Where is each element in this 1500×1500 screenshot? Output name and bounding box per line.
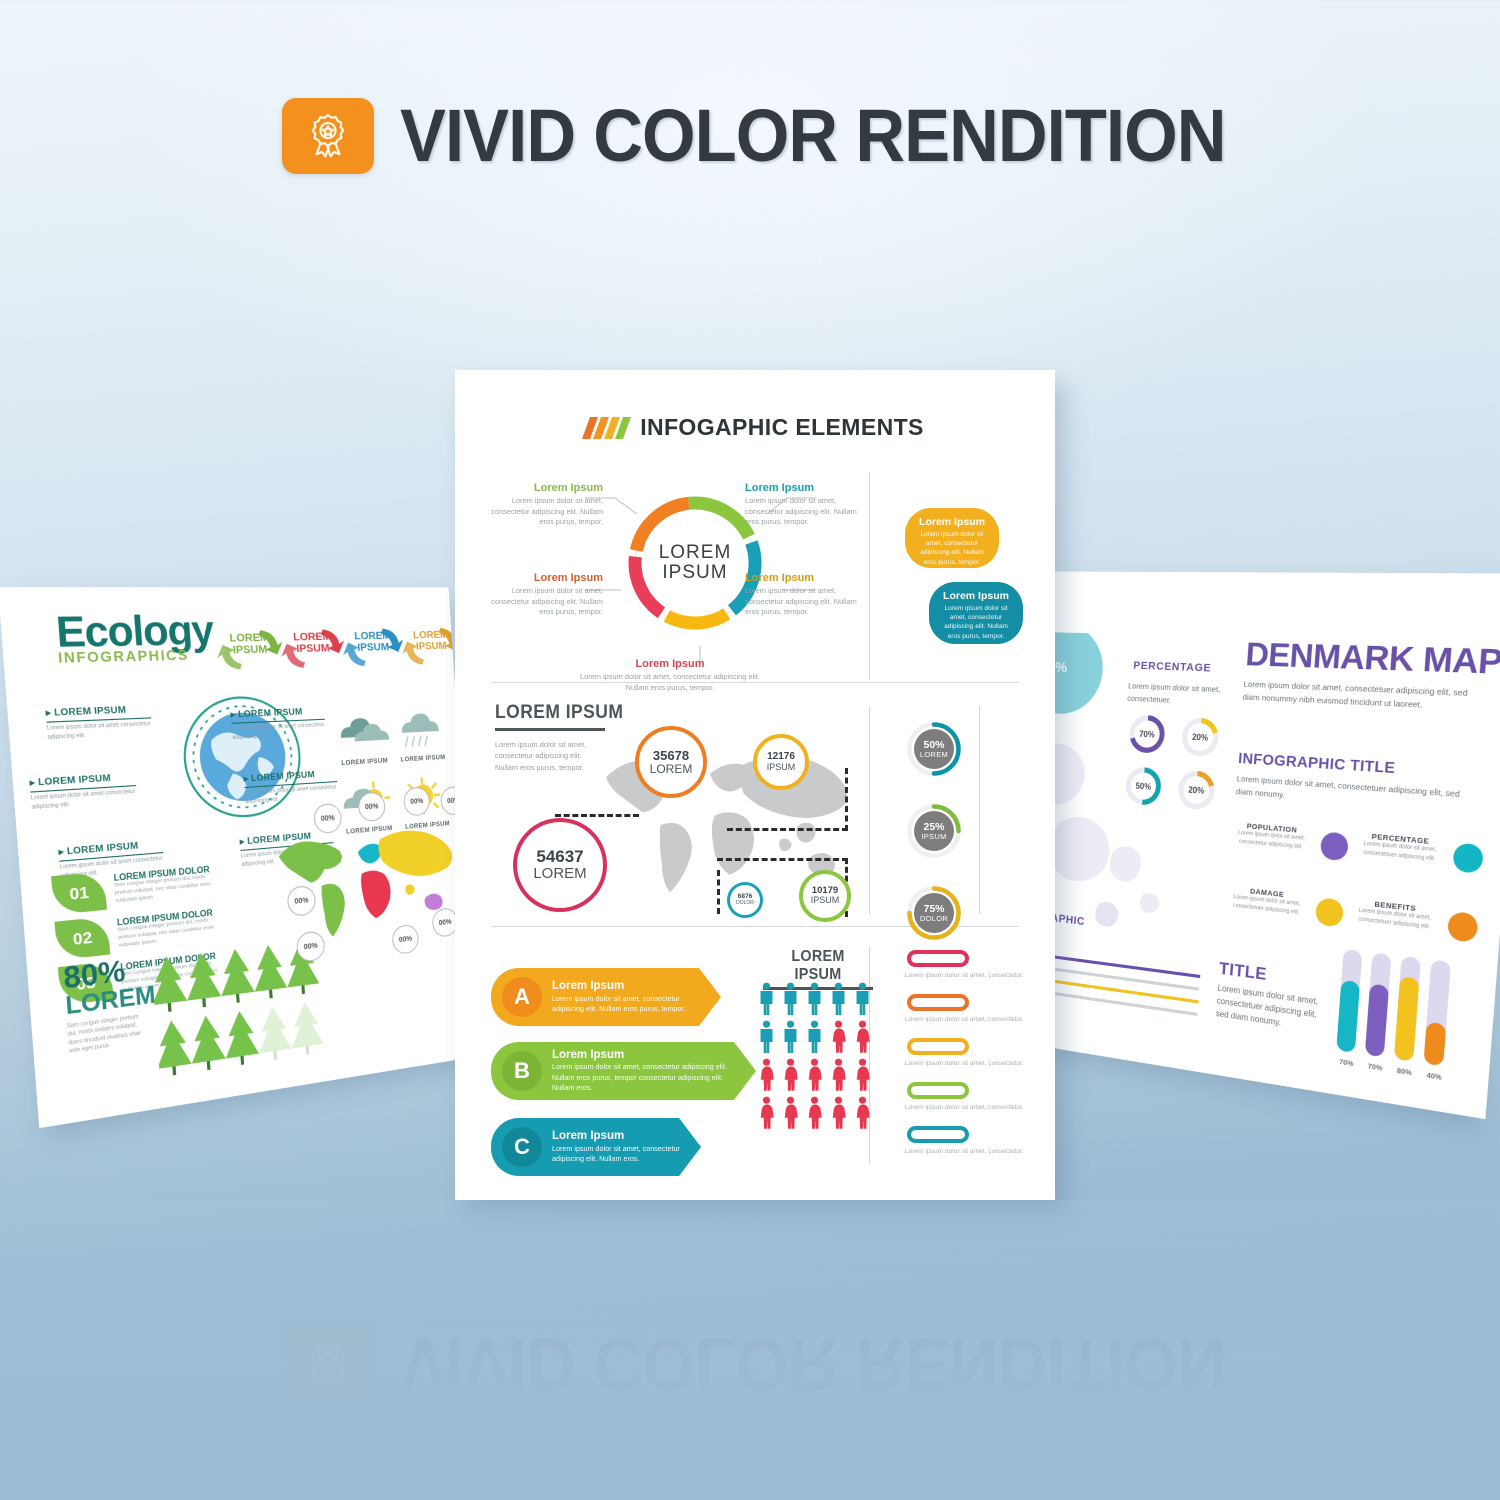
legend-item-0: POPULATIONLorem ipsum dolor sit amet, co… xyxy=(1232,822,1350,862)
map-section-heading: LOREM IPSUM xyxy=(495,702,623,724)
infographic-subtitle: INFOGRAPHIC TITLE xyxy=(1238,749,1396,776)
callout-3: ▸ LOREM IPSUMLorem ipsum dolor sit amet … xyxy=(243,767,338,806)
percentage-donut-3[interactable]: 20% xyxy=(1176,769,1217,812)
title-rule xyxy=(495,728,605,731)
gauge-inner: 75%DOLOR xyxy=(914,893,954,933)
divider-vertical-3 xyxy=(979,706,980,914)
legend-text: BENEFITSLorem ipsum dolor sit amet, cons… xyxy=(1352,899,1437,933)
bar-column-0 xyxy=(1336,949,1362,1053)
banner-body: Lorem ipsum dolor sit amet, consectetur … xyxy=(552,994,709,1014)
banner-body: Lorem ipsum dolor sit amet, consectetur … xyxy=(552,1144,689,1164)
figure-value: 12176 xyxy=(767,752,795,763)
banner-heading: Lorem Ipsum xyxy=(552,1130,689,1143)
person-icon xyxy=(779,1020,802,1054)
bar-track-0 xyxy=(1336,949,1362,1053)
center-title: INFOGAPHIC ELEMENTS xyxy=(640,414,924,441)
weather-item-0: LOREM IPSUM xyxy=(334,711,391,768)
leaf-number: 02 xyxy=(72,928,93,949)
reflection: VIVID COLOR RENDITION Ecology INFOGRAPHI… xyxy=(0,1200,1500,1500)
donut-ring xyxy=(1124,765,1163,807)
legend-dot-2 xyxy=(1315,897,1344,927)
callout-2: ▸ LOREM IPSUMLorem ipsum dolor sit amet … xyxy=(29,771,137,813)
donut-ring xyxy=(1180,716,1221,758)
list-pill-caption-3: Lorem ipsum dolor sit amet, consectetur. xyxy=(905,1104,1025,1111)
banner-body: Lorem ipsum dolor sit amet, consectetur … xyxy=(552,1062,744,1092)
cycle-label-body: Lorem ipsum dolor sit amet, consectetur … xyxy=(491,586,603,618)
figure-bubble-0[interactable]: 35678LOREM xyxy=(635,726,707,798)
banner-heading: Lorem Ipsum xyxy=(552,980,709,993)
denmark-map-brochure[interactable]: 0% PERCENTAGE Lorem ipsum dolor sit amet… xyxy=(1004,571,1500,1119)
bar-label-1: 70% xyxy=(1362,1062,1387,1074)
bar-track-2 xyxy=(1394,956,1421,1062)
cycle-label-heading: Lorem Ipsum xyxy=(491,572,603,584)
cycle-label-heading: Lorem Ipsum xyxy=(491,482,603,494)
legend-text: DAMAGELorem ipsum dolor sit amet, consec… xyxy=(1227,886,1306,918)
figure-value: 54637 xyxy=(536,848,583,866)
side-card-body: Lorem ipsum dolor sit amet, consectetur … xyxy=(941,604,1011,641)
award-ribbon-icon xyxy=(282,1326,374,1402)
figure-label: LOREM xyxy=(650,763,693,776)
percentage-body: Lorem ipsum dolor sit amet, consectetuer… xyxy=(1127,680,1223,709)
banner-A[interactable]: ALorem IpsumLorem ipsum dolor sit amet, … xyxy=(491,968,721,1026)
cycle-label-heading: Lorem Ipsum xyxy=(745,482,857,494)
banner-heading: Lorem Ipsum xyxy=(552,1049,744,1062)
gauge-inner: 50%LOREM xyxy=(914,729,954,769)
cycle-label-body: Lorem ipsum dolor sit amet, consectetur … xyxy=(491,496,603,528)
bar-fill-2 xyxy=(1394,977,1420,1062)
donut-ring xyxy=(1176,769,1217,812)
legend-text: PERCENTAGELorem ipsum dolor sit amet, co… xyxy=(1357,832,1443,864)
cycle-label-heading: Lorem Ipsum xyxy=(575,658,765,670)
rain-cloud-icon xyxy=(395,708,448,751)
banner-key-B: B xyxy=(502,1051,542,1091)
cycle-label-heading: Lorem Ipsum xyxy=(745,572,857,584)
weather-item-1: LOREM IPSUM xyxy=(394,708,449,763)
person-icon xyxy=(851,1096,874,1130)
figure-bubble-4[interactable]: 10179IPSUM xyxy=(799,870,851,922)
gauge-0[interactable]: 50%LOREM xyxy=(905,720,963,778)
gauge-1[interactable]: 25%IPSUM xyxy=(905,802,963,860)
person-icon xyxy=(779,1096,802,1130)
denmark-intro: Lorem ipsum dolor sit amet, consectetuer… xyxy=(1242,678,1483,714)
eco-highlight: 80% LOREM Sem congue integer pretium dui… xyxy=(62,954,159,1057)
cycle-label-2: Lorem IpsumLorem ipsum dolor sit amet, c… xyxy=(491,572,603,618)
leaf-icon: 01 xyxy=(51,872,107,915)
page-title: VIVID COLOR RENDITION xyxy=(400,99,1225,173)
award-ribbon-icon xyxy=(282,98,374,174)
cycle-label-0: Lorem IpsumLorem ipsum dolor sit amet, c… xyxy=(491,482,603,528)
leaf-text: LOREM IPSUM DOLORSem congue integer pret… xyxy=(117,907,220,951)
list-pill-4[interactable] xyxy=(907,1126,969,1143)
recycle-label-2: IPSUM xyxy=(341,641,405,653)
person-icon xyxy=(827,1096,850,1130)
person-icon xyxy=(755,982,778,1016)
side-card-heading: Lorem Ipsum xyxy=(917,516,987,528)
recycle-label-2: IPSUM xyxy=(400,640,461,652)
bar-chart: 70%70%80%40% xyxy=(1335,938,1470,1085)
center-title-row: INFOGAPHIC ELEMENTS xyxy=(455,414,1055,441)
cycle-label-3: Lorem IpsumLorem ipsum dolor sit amet, c… xyxy=(745,572,857,618)
percentage-donut-1[interactable]: 20% xyxy=(1180,716,1221,758)
legend-item-1: PERCENTAGELorem ipsum dolor sit amet, co… xyxy=(1357,832,1484,874)
cycle-label-body: Lorem ipsum dolor sit amet, consectetur … xyxy=(575,672,765,693)
person-icon xyxy=(827,1020,850,1054)
figure-label: IPSUM xyxy=(767,763,796,772)
divider-vertical-2 xyxy=(869,706,870,914)
gauge-2[interactable]: 75%DOLOR xyxy=(905,884,963,942)
person-icon xyxy=(803,1020,826,1054)
person-icon xyxy=(851,982,874,1016)
callout-0: ▸ LOREM IPSUMLorem ipsum dolor sit amet … xyxy=(45,703,152,742)
ecology-title: Ecology INFOGRAPHICS xyxy=(55,611,216,666)
person-icon xyxy=(827,982,850,1016)
header: VIVID COLOR RENDITION xyxy=(282,1326,1288,1402)
list-pill-caption-4: Lorem ipsum dolor sit amet, consectetur. xyxy=(905,1148,1025,1155)
figure-value: 35678 xyxy=(653,749,689,763)
person-icon xyxy=(755,1058,778,1092)
side-card-1[interactable]: Lorem IpsumLorem ipsum dolor sit amet, c… xyxy=(929,582,1023,644)
header: VIVID COLOR RENDITION xyxy=(282,98,1288,174)
clouds-icon xyxy=(335,711,390,755)
list-pill-2[interactable] xyxy=(907,1038,969,1055)
infographic-sub-body: Lorem ipsum dolor sit amet, consectetuer… xyxy=(1235,773,1465,815)
recycle-badge-0: LOREMIPSUM xyxy=(214,632,284,656)
gauge-inner: 25%IPSUM xyxy=(914,811,954,851)
bar-column-1 xyxy=(1365,952,1392,1057)
cycle-label-1: Lorem IpsumLorem ipsum dolor sit amet, c… xyxy=(745,482,857,528)
list-pill-caption-1: Lorem ipsum dolor sit amet, consectetur. xyxy=(905,1016,1025,1023)
callout-1: ▸ LOREM IPSUMLorem ipsum dolor sit amet … xyxy=(230,705,326,742)
pictogram-heading: LOREM IPSUM xyxy=(766,948,870,984)
callout-body: Lorem ipsum dolor sit amet consectetur a… xyxy=(31,788,138,812)
leaf-number: 01 xyxy=(69,883,90,904)
person-icon xyxy=(827,1058,850,1092)
person-icon xyxy=(803,982,826,1016)
cycle-label-body: Lorem ipsum dolor sit amet, consectetur … xyxy=(745,496,857,528)
weather-label: LOREM IPSUM xyxy=(338,757,392,767)
banner-text: Lorem IpsumLorem ipsum dolor sit amet, c… xyxy=(552,1130,701,1163)
person-icon xyxy=(851,1020,874,1054)
person-icon xyxy=(755,1096,778,1130)
person-icon xyxy=(803,1096,826,1130)
percentage-donut-group: 70%20%50%20% xyxy=(1036,571,1500,573)
bar-track-1 xyxy=(1365,952,1392,1057)
person-icon xyxy=(803,1058,826,1092)
side-card-body: Lorem ipsum dolor sit amet, consectetur … xyxy=(917,530,987,567)
bar-fill-3 xyxy=(1423,1022,1446,1066)
figure-bubble-3[interactable]: 6876DOLOR xyxy=(727,882,763,918)
legend-dot-0 xyxy=(1320,831,1349,861)
banner-key-C: C xyxy=(502,1127,542,1167)
callout-body: Lorem ipsum dolor sit amet consectetur a… xyxy=(232,722,327,742)
dashed-connector-1 xyxy=(555,814,639,817)
callout-body: Lorem ipsum dolor sit amet consectetur a… xyxy=(47,721,153,743)
recycle-badge-2: LOREMIPSUM xyxy=(340,630,404,653)
list-pill-0[interactable] xyxy=(907,950,969,967)
list-pill-1[interactable] xyxy=(907,994,969,1011)
infographic-elements-brochure[interactable]: INFOGAPHIC ELEMENTS LOREM IPSUM Lorem Ip… xyxy=(455,370,1055,1200)
bar-column-3 xyxy=(1423,959,1451,1066)
banner-text: Lorem IpsumLorem ipsum dolor sit amet, c… xyxy=(552,980,721,1013)
figure-label: IPSUM xyxy=(811,896,840,905)
person-icon xyxy=(779,982,802,1016)
person-icon xyxy=(755,1020,778,1054)
leaf-text: LOREM IPSUM DOLORSem congue integer pret… xyxy=(113,864,216,906)
bar-label-0: 70% xyxy=(1334,1058,1359,1069)
bar-label-2: 80% xyxy=(1392,1067,1418,1079)
percentage-donut-0[interactable]: 70% xyxy=(1127,713,1167,755)
legend-item-2: DAMAGELorem ipsum dolor sit amet, consec… xyxy=(1227,886,1344,928)
pictogram-grid xyxy=(755,982,874,1130)
banner-text: Lorem IpsumLorem ipsum dolor sit amet, c… xyxy=(552,1049,756,1092)
list-pill-caption-0: Lorem ipsum dolor sit amet, consectetur. xyxy=(905,972,1025,979)
legend-dot-1 xyxy=(1452,843,1484,874)
cycle-label-body: Lorem ipsum dolor sit amet, consectetur … xyxy=(745,586,857,618)
figure-label: DOLOR xyxy=(736,901,754,906)
ecology-brochure[interactable]: Ecology INFOGRAPHICS LOREMIPSUM LOREMIPS… xyxy=(0,587,479,1128)
bar-column-2 xyxy=(1394,956,1421,1062)
bar-fill-1 xyxy=(1365,983,1389,1057)
recycle-label-2: IPSUM xyxy=(279,642,345,654)
eco-highlight-body: Sem congue integer pretium dui, morbi so… xyxy=(67,1013,142,1057)
cycle-label-4: Lorem IpsumLorem ipsum dolor sit amet, c… xyxy=(575,658,765,693)
bar-fill-0 xyxy=(1336,979,1360,1053)
bar-track-3 xyxy=(1423,959,1451,1066)
leaf-icon: 02 xyxy=(54,916,110,960)
list-pill-caption-2: Lorem ipsum dolor sit amet, consectetur. xyxy=(905,1060,1025,1067)
map-section-body: Lorem ipsum dolor sit amet, consectetur … xyxy=(495,739,603,773)
figure-bubble-2[interactable]: 54637LOREM xyxy=(513,818,607,912)
legend-item-3: BENEFITSLorem ipsum dolor sit amet, cons… xyxy=(1352,899,1479,943)
legend-dot-3 xyxy=(1447,911,1479,943)
chart-caption: TITLE Lorem ipsum dolor sit amet, consec… xyxy=(1215,960,1328,1037)
banner-C[interactable]: CLorem IpsumLorem ipsum dolor sit amet, … xyxy=(491,1118,701,1176)
side-card-0[interactable]: Lorem IpsumLorem ipsum dolor sit amet, c… xyxy=(905,508,999,568)
legend-group: POPULATIONLorem ipsum dolor sit amet, co… xyxy=(1036,571,1500,573)
side-card-heading: Lorem Ipsum xyxy=(941,590,1011,602)
recycle-label-2: IPSUM xyxy=(215,643,284,656)
recycle-badge-3: LOREMIPSUM xyxy=(400,630,462,652)
logo-bars-icon xyxy=(586,417,627,439)
banner-key-A: A xyxy=(502,977,542,1017)
donut-ring xyxy=(1127,713,1167,755)
weather-label: LOREM IPSUM xyxy=(397,754,449,764)
figure-bubble-1[interactable]: 12176IPSUM xyxy=(753,734,809,790)
figure-label: LOREM xyxy=(533,866,586,882)
person-icon xyxy=(779,1058,802,1092)
percentage-donut-2[interactable]: 50% xyxy=(1124,765,1163,807)
person-icon xyxy=(851,1058,874,1092)
dashed-connector-3 xyxy=(717,870,720,914)
denmark-title: DENMARK MAP xyxy=(1244,635,1500,683)
page-title: VIVID COLOR RENDITION xyxy=(400,1327,1225,1401)
poster-stage: VIVID COLOR RENDITION Ecology INFOGRAPHI… xyxy=(0,1200,1500,1500)
banner-B[interactable]: BLorem IpsumLorem ipsum dolor sit amet, … xyxy=(491,1042,756,1100)
recycle-badge-1: LOREMIPSUM xyxy=(279,631,346,654)
legend-text: POPULATIONLorem ipsum dolor sit amet, co… xyxy=(1232,822,1311,853)
bar-label-3: 40% xyxy=(1421,1071,1447,1083)
list-pill-3[interactable] xyxy=(907,1082,969,1099)
